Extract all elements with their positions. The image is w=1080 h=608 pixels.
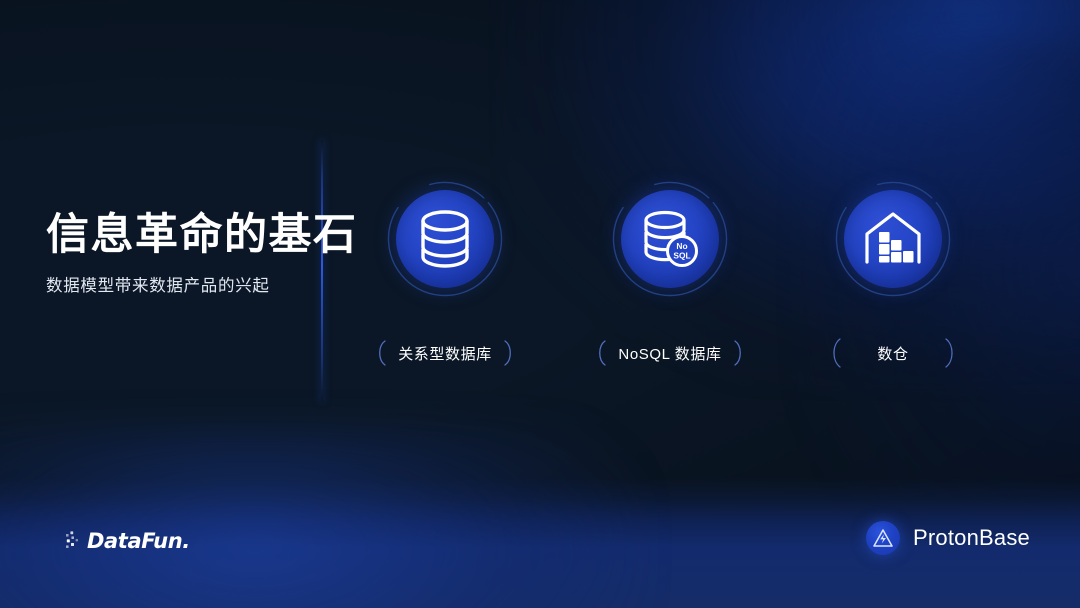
card-nosql-database[interactable]: No SQL NoSQL 数据库 [580, 180, 760, 298]
title-block: 信息革命的基石 数据模型带来数据产品的兴起 [46, 212, 308, 296]
icon-badge: No SQL [611, 180, 729, 298]
card-label-row: NoSQL 数据库 [580, 338, 760, 368]
bracket-left-icon [829, 338, 843, 368]
footer: DataFun. ProtonBase [0, 492, 1080, 608]
datafun-wordmark: DataFun. [87, 529, 190, 553]
vertical-divider [321, 140, 323, 402]
data-warehouse-icon [844, 190, 942, 288]
nosql-database-icon: No SQL [621, 190, 719, 288]
card-label: 数仓 [843, 343, 942, 364]
bracket-left-icon [375, 340, 387, 366]
bracket-right-icon [503, 340, 515, 366]
database-icon [396, 190, 494, 288]
bracket-right-icon [943, 338, 957, 368]
card-label: NoSQL 数据库 [607, 343, 732, 364]
protonbase-mark-icon [866, 521, 900, 555]
bracket-left-icon [595, 340, 607, 366]
icon-badge [834, 180, 952, 298]
card-label-row: 关系型数据库 [355, 338, 535, 368]
page-subtitle: 数据模型带来数据产品的兴起 [46, 272, 308, 296]
card-group: 关系型数据库 [330, 180, 1030, 400]
card-label-row: 数仓 [803, 338, 983, 368]
card-relational-database[interactable]: 关系型数据库 [355, 180, 535, 298]
card-data-warehouse[interactable]: 数仓 [803, 180, 983, 298]
bracket-right-icon [733, 340, 745, 366]
badge-text-bottom: SQL [673, 251, 690, 261]
protonbase-wordmark: ProtonBase [913, 525, 1030, 551]
card-label: 关系型数据库 [387, 343, 503, 364]
badge-text-top: No [676, 241, 687, 251]
datafun-dots-icon [66, 530, 83, 552]
protonbase-logo[interactable]: ProtonBase [866, 521, 1030, 555]
datafun-logo[interactable]: DataFun. [66, 529, 190, 553]
slide-root: 信息革命的基石 数据模型带来数据产品的兴起 [0, 0, 1080, 608]
icon-badge [386, 180, 504, 298]
page-title: 信息革命的基石 [46, 212, 308, 259]
